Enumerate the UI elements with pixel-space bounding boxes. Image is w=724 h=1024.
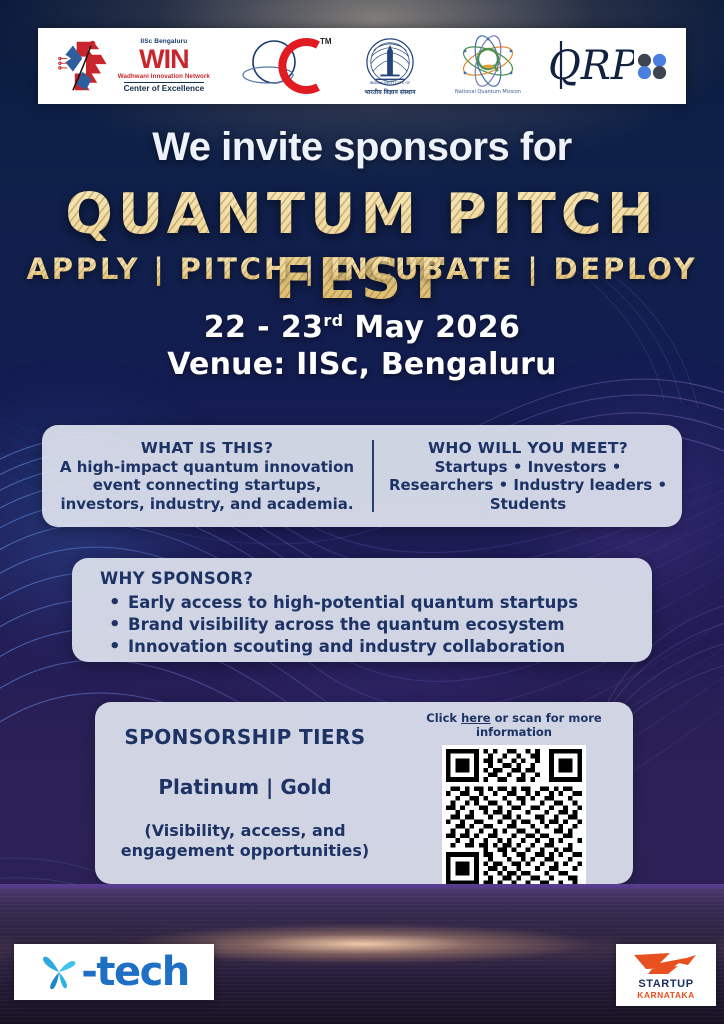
svg-text:National Quantum Mission: National Quantum Mission xyxy=(455,89,521,95)
ktech-logo: -tech xyxy=(14,944,214,1000)
qrp-dots-icon xyxy=(636,51,668,81)
list-item: Brand visibility across the quantum ecos… xyxy=(100,614,652,636)
here-link[interactable]: here xyxy=(461,711,490,725)
ktech-wordmark: -tech xyxy=(81,949,189,995)
ktech-butterfly-icon xyxy=(39,951,79,993)
click-here-note: Click here or scan for more information xyxy=(395,711,633,740)
who-body: Startups • Investors • Researchers • Ind… xyxy=(382,458,674,513)
why-heading: WHY SPONSOR? xyxy=(100,569,652,588)
iisc-emblem-logo: INDIAN INSTITUTE OF भारतीय विज्ञान संस्थ… xyxy=(353,34,427,98)
what-is-this-column: WHAT IS THIS? A high-impact quantum inno… xyxy=(42,439,372,513)
click-suffix: or scan for more information xyxy=(476,711,602,739)
date-prefix: 22 - 23 xyxy=(204,310,324,345)
win-tagline: Center of Excellence xyxy=(124,82,205,93)
win-wordmark: WIN xyxy=(139,46,188,73)
tiers-heading: SPONSORSHIP TIERS xyxy=(124,725,365,749)
iisc-emblem-icon: INDIAN INSTITUTE OF xyxy=(353,37,427,87)
who-heading: WHO WILL YOU MEET? xyxy=(382,439,674,457)
cc-mark-icon xyxy=(234,35,330,97)
national-quantum-mission-logo: National Quantum Mission xyxy=(451,33,525,99)
svg-text:INDIAN INSTITUTE OF: INDIAN INSTITUTE OF xyxy=(370,80,411,85)
startup-karnataka-line1: STARTUP xyxy=(638,979,693,990)
event-date: 22 - 23rd May 2026 xyxy=(0,310,724,345)
sponsor-logo-strip: IISc Bengaluru WIN Wadhwani Innovation N… xyxy=(38,28,686,104)
date-ordinal: rd xyxy=(323,311,343,330)
startup-karnataka-logo: STARTUP KARNATAKA xyxy=(616,944,716,1006)
tiers-text-column: SPONSORSHIP TIERS Platinum | Gold (Visib… xyxy=(95,702,395,884)
who-will-you-meet-column: WHO WILL YOU MEET? Startups • Investors … xyxy=(374,439,682,513)
tiers-levels: Platinum | Gold xyxy=(158,775,331,799)
qrp-logo: QRP xyxy=(548,28,668,104)
win-mark-icon xyxy=(58,36,114,96)
startup-karnataka-line2: KARNATAKA xyxy=(637,990,695,1000)
invite-line: We invite sponsors for xyxy=(0,125,724,170)
list-item: Early access to high-potential quantum s… xyxy=(100,592,652,614)
date-venue-block: 22 - 23rd May 2026 Venue: IISc, Bengalur… xyxy=(0,310,724,382)
what-body: A high-impact quantum innovation event c… xyxy=(50,458,364,513)
list-item: Innovation scouting and industry collabo… xyxy=(100,636,652,658)
title-subline: APPLY | PITCH | INCUBATE | DEPLOY xyxy=(0,252,724,286)
qr-column: Click here or scan for more information xyxy=(395,702,633,884)
qrp-wordmark-icon: QRP xyxy=(548,39,634,93)
click-prefix: Click xyxy=(426,711,461,725)
trademark-label: TM xyxy=(320,37,332,46)
startup-karnataka-bird-icon xyxy=(630,949,702,979)
poster-canvas: IISc Bengaluru WIN Wadhwani Innovation N… xyxy=(0,0,724,1024)
event-venue: Venue: IISc, Bengaluru xyxy=(0,347,724,382)
why-sponsor-panel: WHY SPONSOR? Early access to high-potent… xyxy=(72,558,652,662)
win-coe-logo: IISc Bengaluru WIN Wadhwani Innovation N… xyxy=(56,28,210,104)
nqm-atom-icon: National Quantum Mission xyxy=(451,33,525,99)
what-heading: WHAT IS THIS? xyxy=(50,439,364,457)
win-expansion: Wadhwani Innovation Network xyxy=(118,74,210,80)
cc-logo: TM xyxy=(234,28,330,104)
page-title: QUANTUM PITCH FEST xyxy=(0,182,724,312)
why-bullet-list: Early access to high-potential quantum s… xyxy=(100,592,652,658)
tiers-note: (Visibility, access, and engagement oppo… xyxy=(105,821,385,860)
what-who-panel: WHAT IS THIS? A high-impact quantum inno… xyxy=(42,425,682,527)
sponsorship-tiers-panel: SPONSORSHIP TIERS Platinum | Gold (Visib… xyxy=(95,702,633,884)
iisc-hindi-label: भारतीय विज्ञान संस्थान xyxy=(364,88,415,96)
date-suffix: May 2026 xyxy=(344,310,521,345)
qr-code-icon[interactable] xyxy=(446,749,582,885)
qr-code[interactable] xyxy=(442,745,586,889)
